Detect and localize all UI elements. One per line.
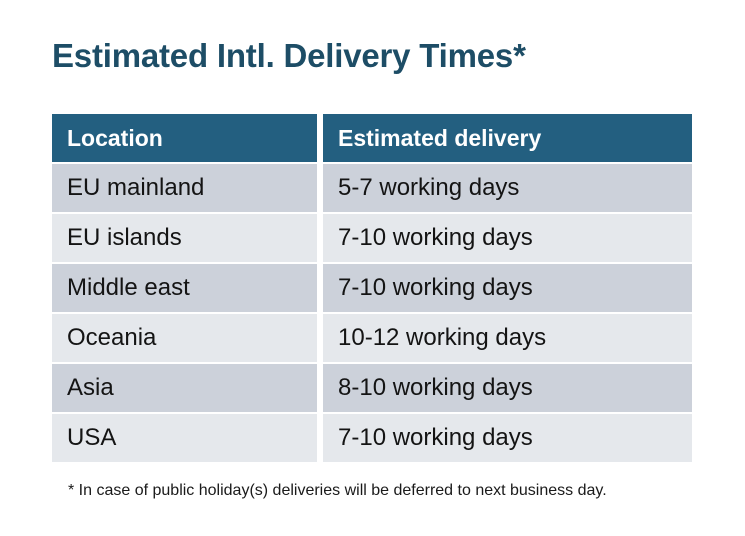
cell-estimated-delivery: 7-10 working days (323, 264, 692, 312)
cell-estimated-delivery: 10-12 working days (323, 314, 692, 362)
table-header-row: Location Estimated delivery (52, 114, 692, 162)
footnote-text: * In case of public holiday(s) deliverie… (68, 481, 607, 501)
cell-location: Asia (52, 364, 317, 412)
table-row: Asia 8-10 working days (52, 364, 692, 412)
delivery-times-table: Location Estimated delivery EU mainland … (52, 114, 692, 462)
table-row: EU islands 7-10 working days (52, 214, 692, 262)
cell-location: USA (52, 414, 317, 462)
column-header-location: Location (52, 114, 317, 162)
table-row: EU mainland 5-7 working days (52, 164, 692, 212)
cell-estimated-delivery: 5-7 working days (323, 164, 692, 212)
table-row: Middle east 7-10 working days (52, 264, 692, 312)
cell-location: EU islands (52, 214, 317, 262)
cell-estimated-delivery: 7-10 working days (323, 214, 692, 262)
table-row: USA 7-10 working days (52, 414, 692, 462)
cell-location: Middle east (52, 264, 317, 312)
cell-estimated-delivery: 8-10 working days (323, 364, 692, 412)
table-row: Oceania 10-12 working days (52, 314, 692, 362)
cell-location: Oceania (52, 314, 317, 362)
cell-location: EU mainland (52, 164, 317, 212)
page-title: Estimated Intl. Delivery Times* (52, 36, 526, 76)
column-header-estimated-delivery: Estimated delivery (323, 114, 692, 162)
cell-estimated-delivery: 7-10 working days (323, 414, 692, 462)
delivery-times-document: Estimated Intl. Delivery Times* Location… (0, 0, 745, 536)
